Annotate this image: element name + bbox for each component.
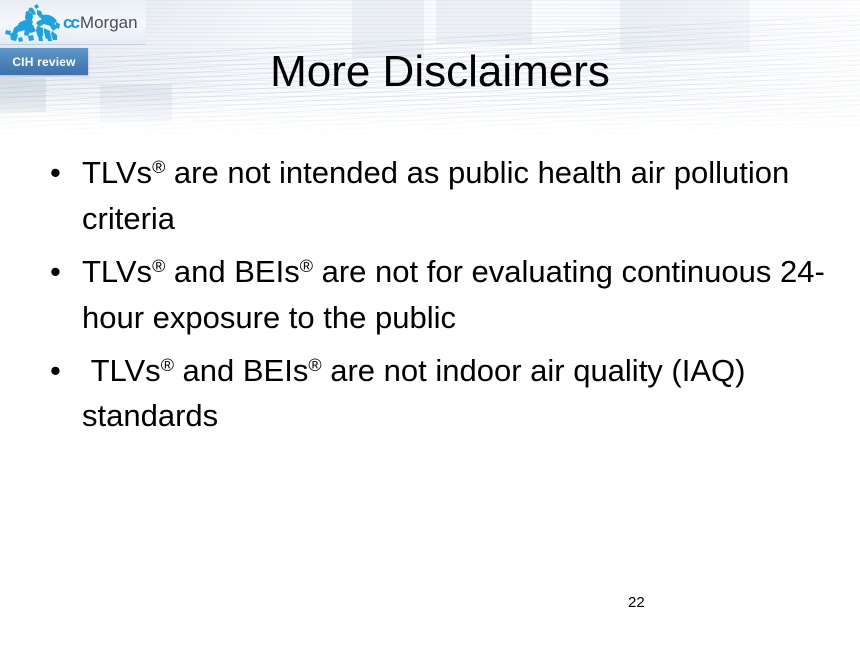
brand-logo: cc Morgan bbox=[0, 0, 146, 45]
registered-trademark-icon: ® bbox=[308, 355, 321, 375]
bullet-item: •TLVs® are not intended as public health… bbox=[36, 150, 836, 242]
page-number: 22 bbox=[628, 594, 645, 611]
cih-review-badge-label: CIH review bbox=[12, 55, 75, 69]
bullet-list: •TLVs® are not intended as public health… bbox=[36, 150, 836, 446]
slide-title: More Disclaimers bbox=[120, 48, 760, 96]
bullet-text-run: TLVs bbox=[82, 254, 152, 289]
registered-trademark-icon: ® bbox=[152, 157, 165, 177]
registered-trademark-icon: ® bbox=[300, 256, 313, 276]
bullet-text-run: and BEIs bbox=[174, 353, 308, 388]
bullet-text-run: and BEIs bbox=[165, 254, 299, 289]
cih-review-badge: CIH review bbox=[0, 48, 88, 75]
bullet-item: •TLVs® and BEIs® are not for evaluating … bbox=[36, 249, 836, 341]
logo-cc-text: cc bbox=[63, 14, 78, 31]
bullet-text: TLVs® and BEIs® are not indoor air quali… bbox=[82, 348, 836, 440]
band-bottom-fade bbox=[0, 96, 860, 138]
brand-wordmark: cc Morgan bbox=[63, 14, 138, 31]
bullet-marker-icon: • bbox=[50, 150, 61, 196]
registered-trademark-icon: ® bbox=[152, 256, 165, 276]
bullet-text: TLVs® are not intended as public health … bbox=[82, 150, 836, 242]
logo-morgan-text: Morgan bbox=[80, 14, 138, 31]
slide-canvas: cc Morgan CIH review More Disclaimers •T… bbox=[0, 0, 860, 650]
registered-trademark-icon: ® bbox=[161, 355, 174, 375]
bullet-item: • TLVs® and BEIs® are not indoor air qua… bbox=[36, 348, 836, 440]
bullet-text: TLVs® and BEIs® are not for evaluating c… bbox=[82, 249, 836, 341]
bullet-marker-icon: • bbox=[50, 249, 61, 295]
bullet-text-run: TLVs bbox=[82, 155, 152, 190]
bullet-text-run: are not intended as public health air po… bbox=[82, 155, 798, 236]
morgan-equestrian-logo-icon bbox=[4, 2, 62, 42]
bullet-text-run: TLVs bbox=[82, 353, 161, 388]
bullet-marker-icon: • bbox=[50, 348, 61, 394]
